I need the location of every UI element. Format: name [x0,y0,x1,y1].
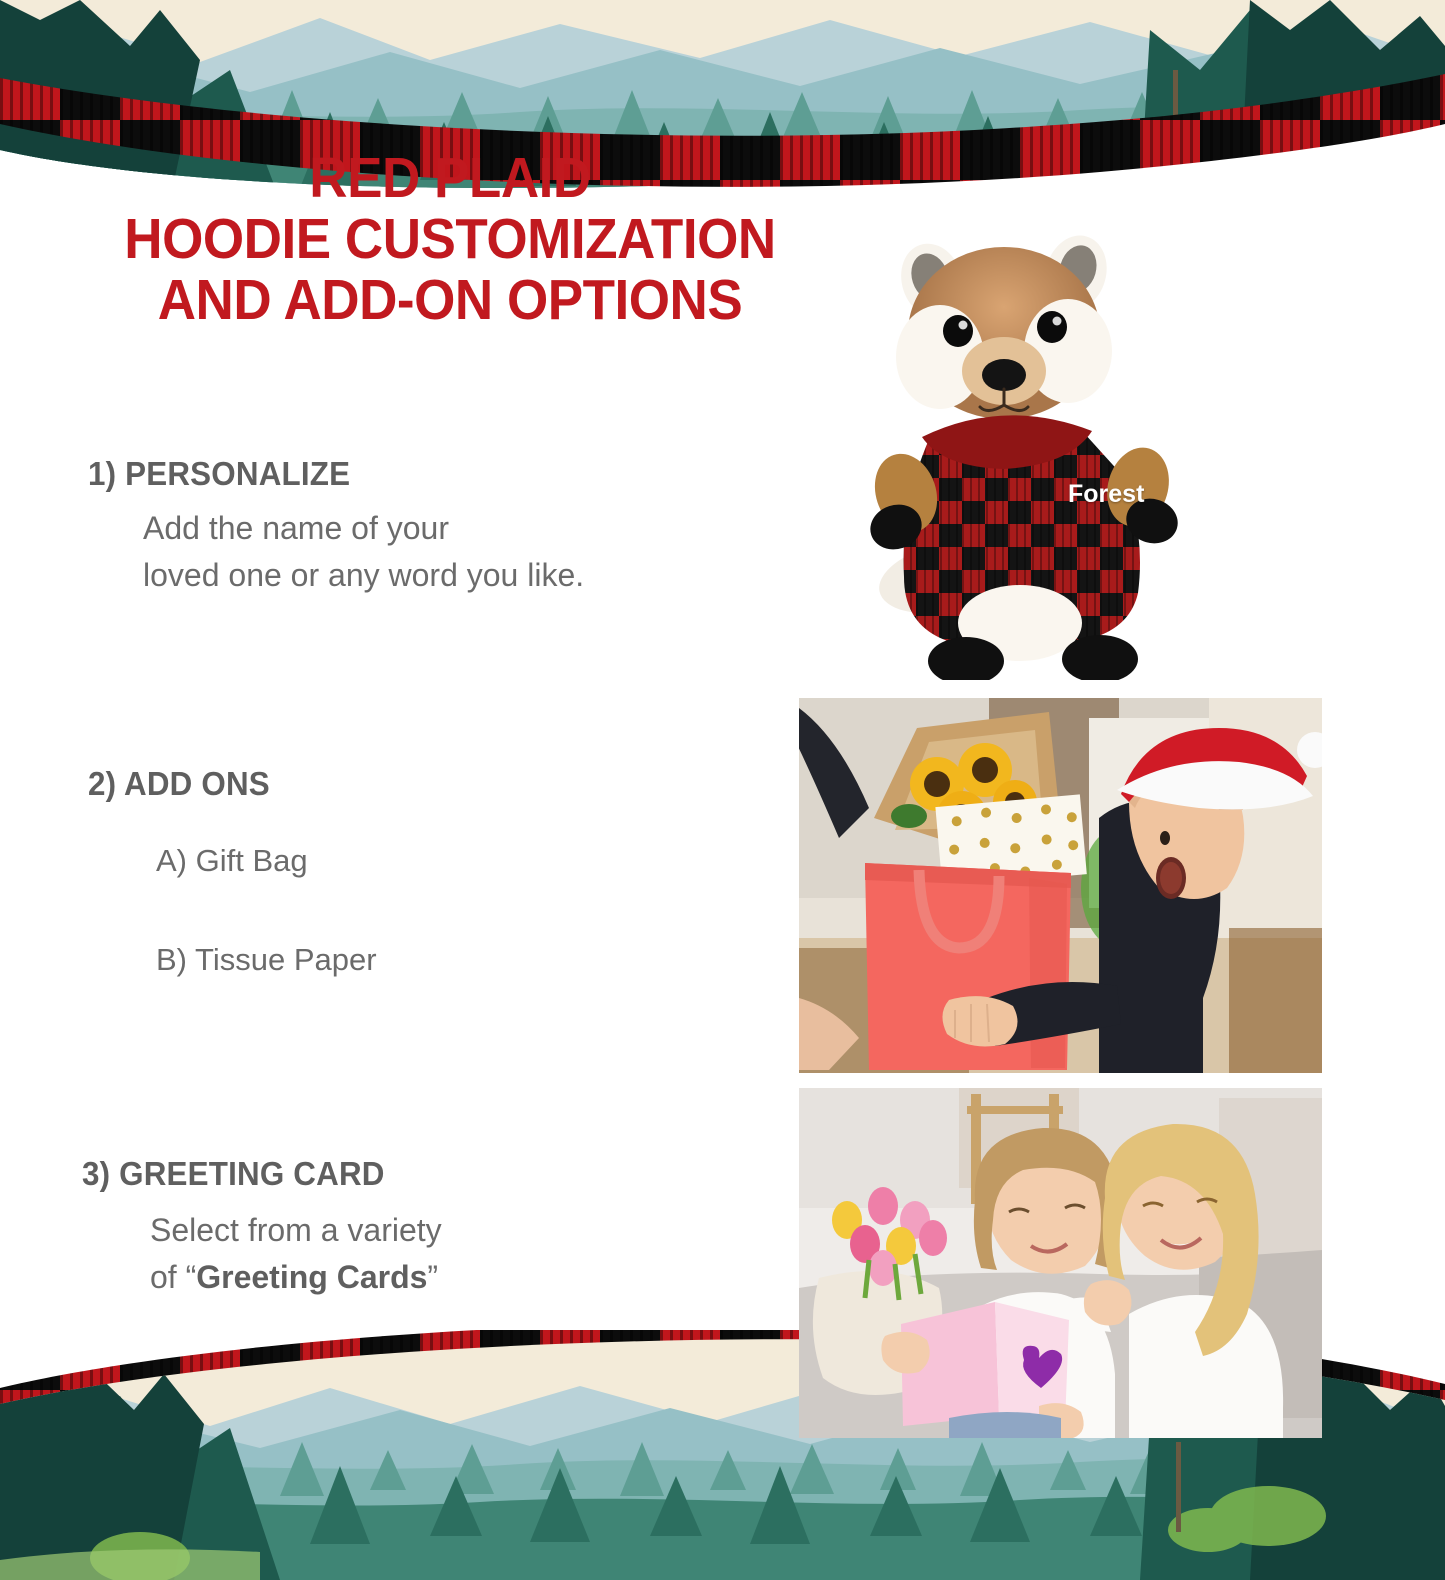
step-3-body: Select from a variety of “Greeting Cards… [150,1207,442,1302]
quote-close: ” [427,1259,438,1295]
step-3-heading: 3) GREETING CARD [82,1155,424,1193]
step-1-body: Add the name of your loved one or any wo… [143,505,584,600]
page-title: RED PLAID HOODIE CUSTOMIZATION AND ADD-O… [0,148,900,331]
step-1-body-line-2: loved one or any word you like. [143,552,584,599]
step-3-body-line-1: Select from a variety [150,1207,442,1254]
plush-hoodie-name-text: Forest [1068,480,1144,509]
step-add-ons: 2) ADD ONS A) Gift Bag B) Tissue Paper [88,765,377,978]
title-line-3: AND ADD-ON OPTIONS [32,270,869,331]
add-ons-sub-list: A) Gift Bag B) Tissue Paper [156,843,377,978]
step-1-heading: 1) PERSONALIZE [88,455,559,493]
step-2-heading: 2) ADD ONS [88,765,362,803]
title-line-1: RED PLAID [32,148,869,209]
gift-bag-photo [799,698,1322,1073]
step-1-body-line-1: Add the name of your [143,505,584,552]
add-on-item-tissue-paper[interactable]: B) Tissue Paper [156,942,377,978]
title-line-2: HOODIE CUSTOMIZATION [32,209,869,270]
quote-open: of “ [150,1259,196,1295]
step-3-body-line-2: of “Greeting Cards” [150,1254,442,1301]
greeting-cards-emphasis: Greeting Cards [196,1259,427,1295]
add-on-item-gift-bag[interactable]: A) Gift Bag [156,843,377,879]
plush-product-photo [870,225,1330,680]
greeting-card-photo [799,1088,1322,1438]
step-personalize: 1) PERSONALIZE Add the name of your love… [88,455,584,600]
step-greeting-card: 3) GREETING CARD Select from a variety o… [82,1155,442,1302]
